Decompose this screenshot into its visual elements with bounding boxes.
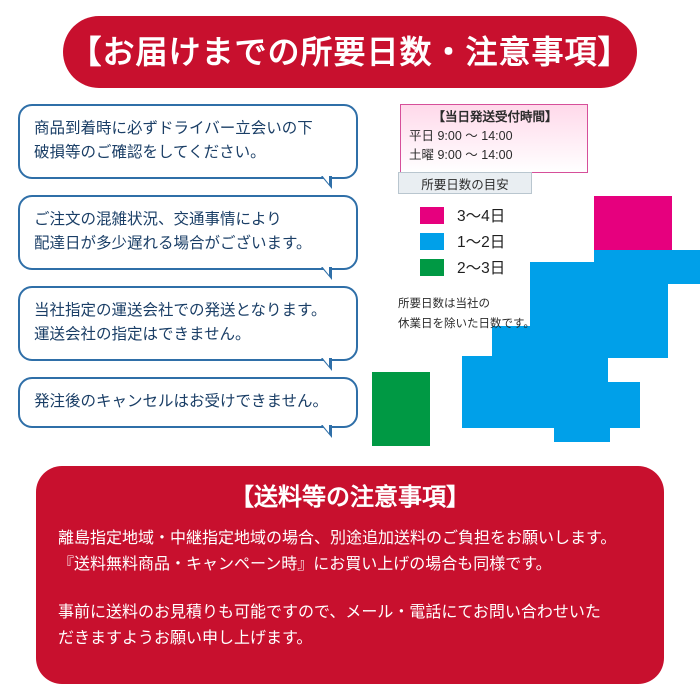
notice-item: 発注後のキャンセルはお受けできません。: [18, 377, 358, 428]
notice-line: ご注文の混雑状況、交通事情により: [34, 208, 342, 232]
notice-item: 当社指定の運送会社での発送となります。 運送会社の指定はできません。: [18, 286, 358, 361]
legend-swatch-magenta: [420, 207, 444, 224]
hours-weekday: 平日 9:00 ～ 14:00: [409, 127, 581, 146]
hours-saturday: 土曜 9:00 ～ 14:00: [409, 146, 581, 165]
same-day-shipping-hours-box: 【当日発送受付時間】 平日 9:00 ～ 14:00 土曜 9:00 ～ 14:…: [400, 104, 588, 173]
page-title-banner: 【お届けまでの所要日数・注意事項】: [63, 16, 637, 88]
bubble-tail-inner: [321, 356, 329, 366]
legend-note: 所要日数は当社の 休業日を除いた日数です。: [398, 294, 588, 334]
legend-swatch-green: [420, 259, 444, 276]
shipping-notes-title: 【送料等の注意事項】: [58, 480, 642, 516]
notice-line: 当社指定の運送会社での発送となります。: [34, 299, 342, 323]
notice-line: 商品到着時に必ずドライバー立会いの下: [34, 117, 342, 141]
bubble-tail-inner: [321, 423, 329, 433]
notice-line: 配達日が多少遅れる場合がございます。: [34, 232, 342, 256]
shipping-notes-paragraph-1: 離島指定地域・中継指定地域の場合、別途追加送料のご負担をお願いします。 『送料無…: [58, 526, 642, 578]
legend-note-line: 所要日数は当社の: [398, 294, 588, 314]
bubble-tail-inner: [321, 265, 329, 275]
legend-header-label: 所要日数の目安: [421, 174, 509, 193]
legend-note-line: 休業日を除いた日数です。: [398, 314, 588, 334]
notice-line: 破損等のご確認をしてください。: [34, 141, 342, 165]
shipping-notes-line: 事前に送料のお見積りも可能ですので、メール・電話にてお問い合わせいた: [58, 600, 642, 626]
legend-label: 3～4日: [457, 204, 505, 226]
hokkaido-block: [594, 196, 672, 250]
notice-line: 運送会社の指定はできません。: [34, 323, 342, 347]
flyer-page: 【お届けまでの所要日数・注意事項】 商品到着時に必ずドライバー立会いの下 破損等…: [0, 0, 700, 700]
legend-header: 所要日数の目安: [398, 172, 532, 194]
hours-box-title: 【当日発送受付時間】: [409, 108, 581, 127]
legend-label: 2～3日: [457, 256, 505, 278]
legend-item: 2～3日: [420, 256, 505, 278]
legend-label: 1～2日: [457, 230, 505, 252]
okinawa-block: [372, 418, 402, 446]
notice-item: 商品到着時に必ずドライバー立会いの下 破損等のご確認をしてください。: [18, 104, 358, 179]
shipping-notes-line: 離島指定地域・中継指定地域の場合、別途追加送料のご負担をお願いします。: [58, 526, 642, 552]
legend: 3～4日 1～2日 2～3日: [420, 204, 505, 282]
shipping-notes-banner: 【送料等の注意事項】 離島指定地域・中継指定地域の場合、別途追加送料のご負担をお…: [36, 466, 664, 684]
tohoku-north-block: [594, 250, 700, 284]
notice-item: ご注文の混雑状況、交通事情により 配達日が多少遅れる場合がございます。: [18, 195, 358, 270]
page-title: 【お届けまでの所要日数・注意事項】: [69, 36, 630, 68]
legend-swatch-cyan: [420, 233, 444, 250]
shikoku-block: [554, 414, 610, 442]
notice-line: 発注後のキャンセルはお受けできません。: [34, 390, 342, 414]
shipping-notes-line: だきますようお願い申し上げます。: [58, 626, 642, 652]
legend-item: 3～4日: [420, 204, 505, 226]
bubble-tail-inner: [321, 174, 329, 184]
shipping-notes-paragraph-2: 事前に送料のお見積りも可能ですので、メール・電話にてお問い合わせいた だきますよ…: [58, 600, 642, 652]
chugoku-block: [462, 382, 640, 428]
shipping-notes-line: 『送料無料商品・キャンペーン時』にお買い上げの場合も同様です。: [58, 552, 642, 578]
legend-item: 1～2日: [420, 230, 505, 252]
notice-list: 商品到着時に必ずドライバー立会いの下 破損等のご確認をしてください。 ご注文の混…: [18, 104, 366, 444]
